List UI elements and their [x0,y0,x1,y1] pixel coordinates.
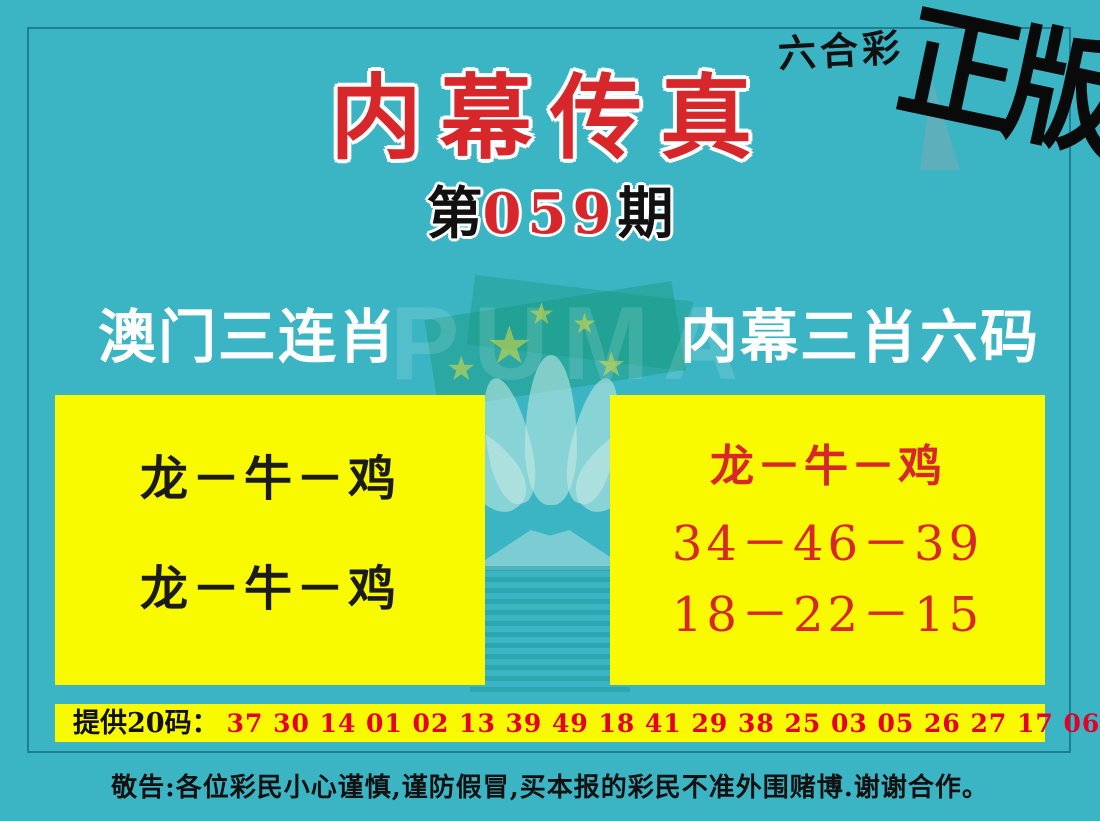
lotus-petal [525,355,577,505]
star-icon: ★ [572,310,597,338]
zodiac-row: 龙－牛－鸡 [55,565,485,613]
zodiac-row: 龙－牛－鸡 [610,445,1045,489]
codes-numbers: 37 30 14 01 02 13 39 49 18 41 29 38 25 0… [227,711,1100,736]
issue-number: 059 [483,181,618,247]
page-title: 内幕传真 [0,72,1100,164]
issue-line: 第059期 [0,186,1100,242]
numbers-row-second: 18－22－15 [610,591,1045,639]
panel-macau-three-zodiac: 龙－牛－鸡 龙－牛－鸡 [55,395,485,685]
panel-inside-three-zodiac-six-codes: 龙－牛－鸡 34－46－39 18－22－15 [610,395,1045,685]
brand-label: 六合彩 [777,29,905,74]
codes-strip: 提供20码： 37 30 14 01 02 13 39 49 18 41 29 … [55,704,1045,742]
star-icon: ★ [528,300,555,330]
star-icon: ★ [596,348,626,382]
codes-label: 提供20码： [73,710,219,737]
star-icon: ★ [446,352,476,386]
section-heading-inside-three-zodiac-six-codes: 内幕三肖六码 [680,308,1040,366]
section-heading-macau-three-zodiac: 澳门三连肖 [98,308,398,366]
bridge-icon [470,530,630,570]
water-lines-icon [470,566,630,694]
star-icon: ★ [486,320,533,372]
footer-notice: 敬告:各位彩民小心谨慎,谨防假冒,买本报的彩民不准外围赌博.谢谢合作。 [0,775,1100,801]
lotus-emblem-icon [470,355,630,555]
zodiac-row: 龙－牛－鸡 [55,455,485,503]
lottery-poster: PUMA ★ ★ ★ ★ ★ 六合彩 正版 内幕传真 第059期 澳门三连肖 内… [0,0,1100,821]
watermark-band-secondary-icon [467,275,694,371]
issue-prefix: 第 [427,181,483,247]
issue-suffix: 期 [617,181,673,247]
watermark-band-icon [424,281,685,409]
numbers-row-first: 34－46－39 [610,520,1045,568]
